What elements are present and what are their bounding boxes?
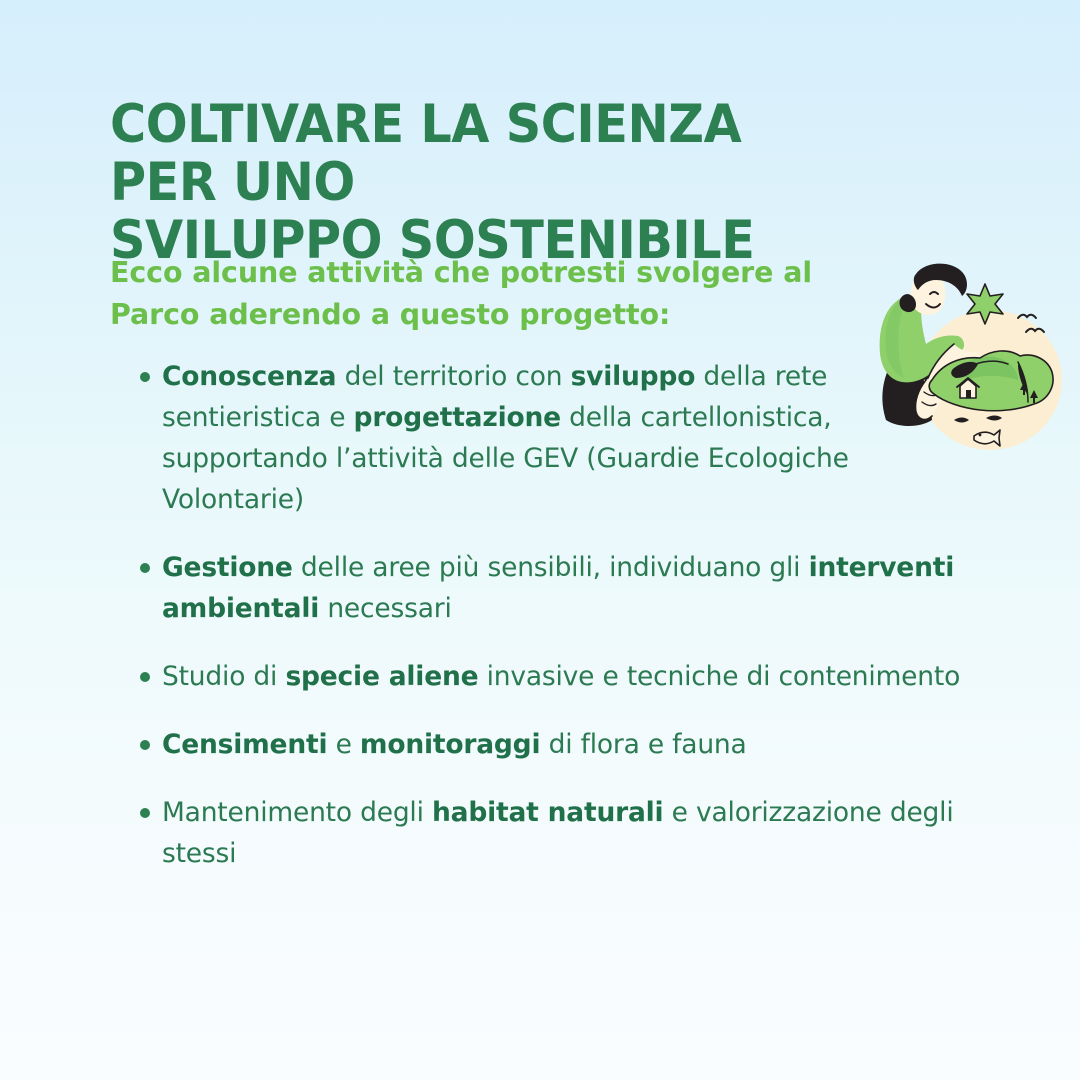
plain-text: Studio di (162, 661, 285, 692)
bullet-dot-icon (140, 740, 150, 750)
plain-text: invasive e tecniche di contenimento (478, 661, 960, 692)
emphasis-text: monitoraggi (360, 729, 540, 760)
list-item: Mantenimento degli habitat naturali e va… (136, 792, 976, 874)
list-item: Gestione delle aree più sensibili, indiv… (136, 547, 976, 629)
page-title: COLTIVARE LA SCIENZA PER UNO SVILUPPO SO… (110, 96, 854, 270)
list-item-text: Conoscenza del territorio con sviluppo d… (162, 361, 849, 515)
person-studying-landscape-map-illustration (868, 252, 1068, 457)
plain-text: del territorio con (336, 361, 570, 392)
list-item: Studio di specie aliene invasive e tecni… (136, 656, 976, 697)
plain-text: delle aree più sensibili, individuano gl… (293, 552, 809, 583)
subtitle-text: Ecco alcune attività che potresti svolge… (110, 252, 900, 336)
list-item: Censimenti e monitoraggi di flora e faun… (136, 724, 976, 765)
list-item-text: Gestione delle aree più sensibili, indiv… (162, 552, 954, 624)
emphasis-text: habitat naturali (432, 797, 663, 828)
emphasis-text: Censimenti (162, 729, 327, 760)
plain-text: necessari (319, 593, 452, 624)
list-item: Conoscenza del territorio con sviluppo d… (136, 356, 976, 520)
plain-text: di flora e fauna (540, 729, 746, 760)
bullet-dot-icon (140, 372, 150, 382)
emphasis-text: sviluppo (571, 361, 696, 392)
bullet-dot-icon (140, 672, 150, 682)
bullet-dot-icon (140, 808, 150, 818)
poster-canvas: COLTIVARE LA SCIENZA PER UNO SVILUPPO SO… (0, 0, 1080, 1080)
bullet-dot-icon (140, 563, 150, 573)
emphasis-text: progettazione (354, 402, 561, 433)
list-item-text: Studio di specie aliene invasive e tecni… (162, 661, 960, 692)
activities-list: Conoscenza del territorio con sviluppo d… (136, 356, 976, 874)
fish-eye-icon (979, 434, 982, 437)
list-item-text: Censimenti e monitoraggi di flora e faun… (162, 729, 747, 760)
list-item-text: Mantenimento degli habitat naturali e va… (162, 797, 954, 869)
emphasis-text: Gestione (162, 552, 293, 583)
emphasis-text: Conoscenza (162, 361, 336, 392)
plain-text: Mantenimento degli (162, 797, 432, 828)
plain-text: e (327, 729, 360, 760)
emphasis-text: specie aliene (285, 661, 478, 692)
house-door-icon (966, 390, 971, 398)
